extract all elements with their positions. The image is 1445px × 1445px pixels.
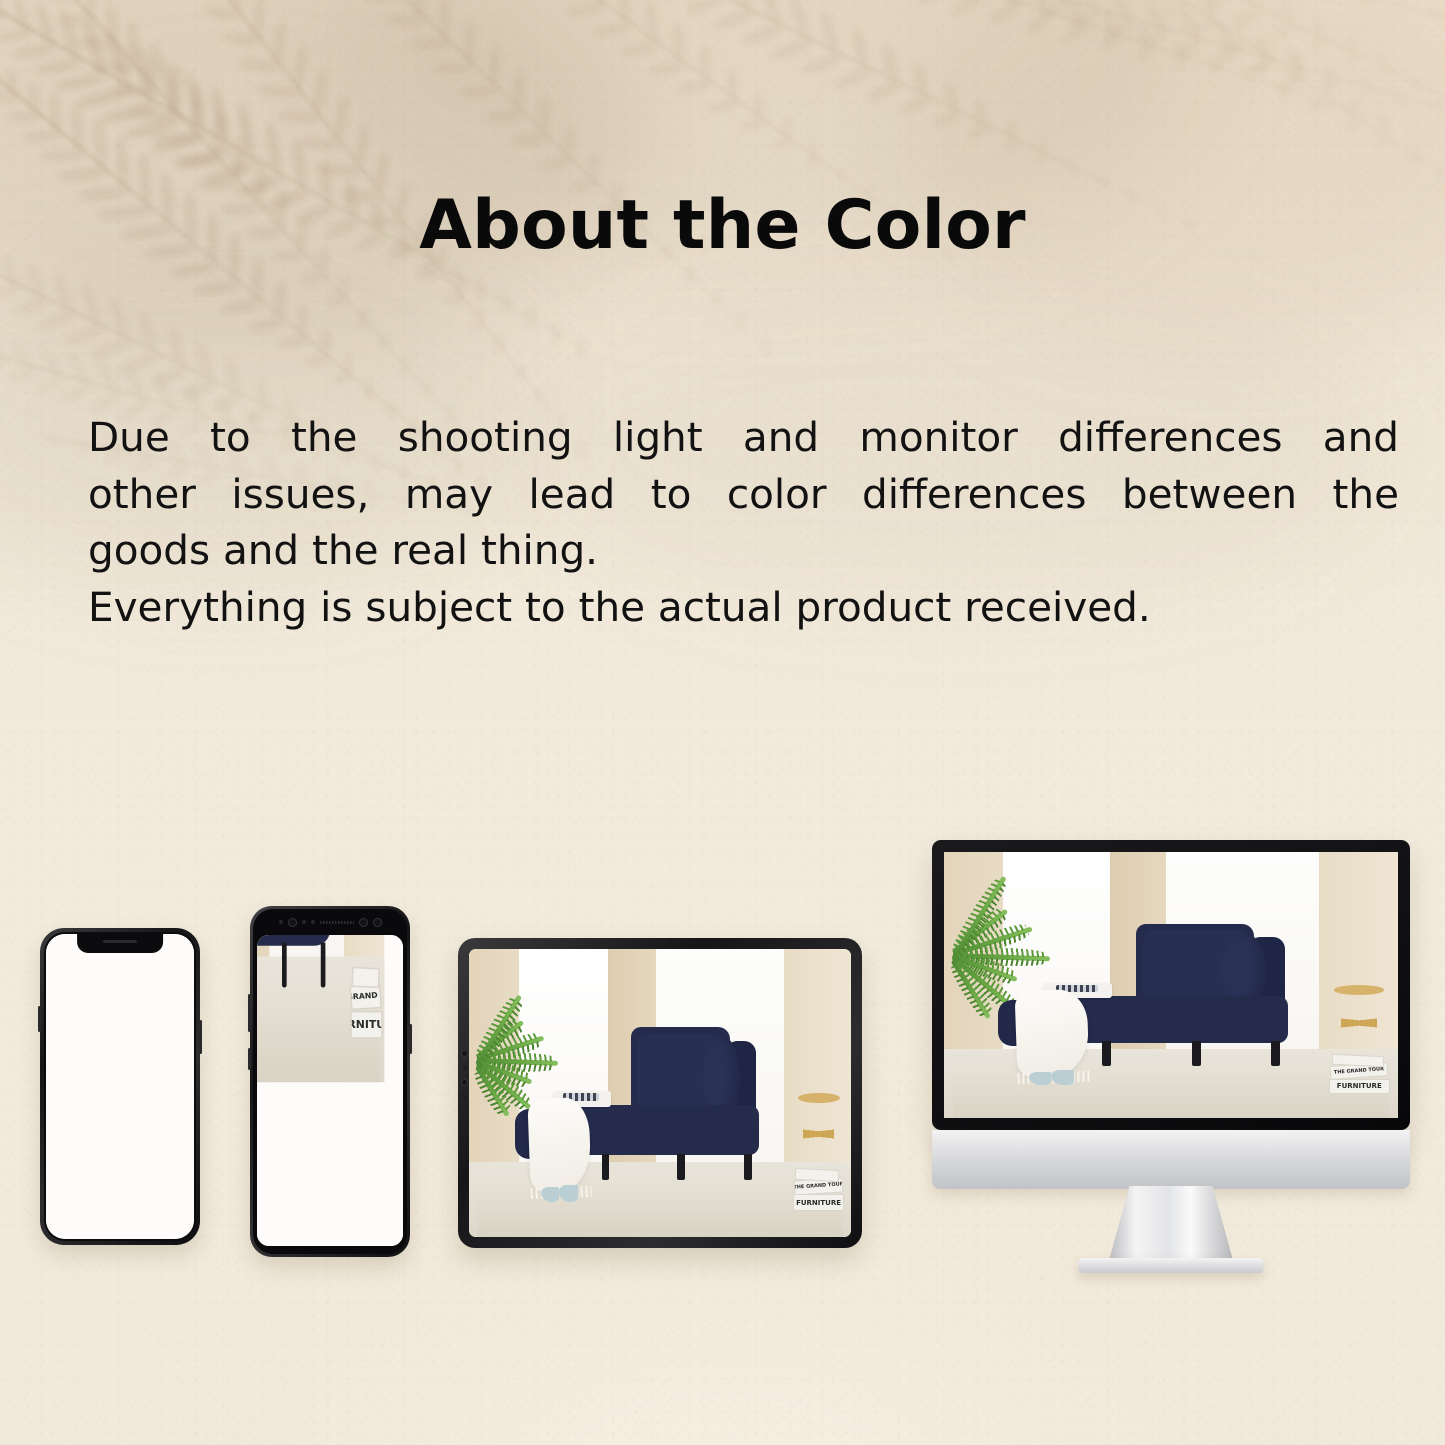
palm-leaflet-shadow	[381, 334, 390, 343]
palm-leaflet-shadow	[475, 289, 487, 300]
sofa-leg	[321, 942, 325, 987]
tablet-screen[interactable]: THE GRAND TOURFURNITURE	[469, 949, 851, 1237]
palm-leaflet-shadow	[804, 157, 820, 168]
palm-leaflet-shadow	[333, 373, 352, 385]
disclaimer-paragraph: Due to the shooting light and monitor di…	[88, 409, 1399, 635]
palm-leaflet-shadow	[1001, 138, 1021, 153]
palm-leaflet-shadow	[52, 438, 61, 447]
palm-leaflet-shadow	[1190, 21, 1220, 34]
palm-leaflet-shadow	[495, 347, 503, 354]
palm-leaflet-shadow	[1378, 68, 1391, 79]
palm-leaflet-shadow	[38, 345, 62, 377]
palm-frond-shadow	[287, 0, 783, 361]
palm-leaflet-shadow	[1173, 42, 1184, 57]
palm-leaflet-shadow	[326, 297, 346, 306]
palm-leaflet-shadow	[6, 112, 40, 121]
palm-leaflet-shadow	[1378, 57, 1387, 69]
monitor-chin	[932, 1130, 1410, 1189]
palm-leaflet-shadow	[111, 85, 157, 97]
palm-leaflet-shadow	[77, 37, 116, 49]
palm-leaflet-shadow	[362, 392, 375, 402]
product-photo-tablet: THE GRAND TOURFURNITURE	[469, 949, 851, 1237]
palm-leaflet-shadow	[293, 43, 308, 90]
palm-leaflet-shadow	[0, 94, 18, 102]
palm-leaflet-shadow	[225, 359, 241, 394]
palm-leaflet-shadow	[1275, 81, 1283, 89]
palm-leaflet-shadow	[1145, 0, 1167, 31]
palm-leaflet-shadow	[343, 354, 352, 373]
palm-leaflet-shadow	[527, 308, 534, 318]
palm-leaflet-shadow	[1098, 33, 1122, 53]
shoe-right	[1051, 1070, 1073, 1085]
palm-leaflet-shadow	[194, 280, 242, 297]
palm-leaflet-shadow	[589, 153, 600, 181]
sofa-leg	[1271, 1041, 1280, 1066]
palm-leaflet-shadow	[62, 14, 95, 26]
palm-frond-shadow	[928, 0, 1445, 156]
palm-leaflet-shadow	[273, 19, 287, 64]
palm-leaflet-shadow	[418, 270, 443, 278]
palm-leaflet-shadow	[501, 294, 508, 304]
palm-leaflet-shadow	[1104, 18, 1137, 42]
palm-leaflet-shadow	[36, 310, 78, 331]
palm-leaflet-shadow	[476, 307, 487, 321]
palm-leaflet-shadow	[450, 274, 462, 285]
palm-leaflet-shadow	[1202, 0, 1232, 10]
product-photo-monitor: THE GRAND TOURFURNITURE	[944, 852, 1398, 1118]
palm-leaflet-shadow	[1322, 76, 1340, 92]
palm-leaflet-shadow	[190, 85, 203, 134]
palm-leaflet-shadow	[565, 2, 606, 17]
palm-leaflet-shadow	[0, 338, 5, 361]
palm-leaflet-shadow	[737, 323, 745, 331]
palm-leaflet-shadow	[837, 176, 847, 185]
palm-leaflet-shadow	[153, 374, 176, 409]
palm-leaflet-shadow	[1043, 0, 1066, 2]
palm-leaflet-shadow	[33, 57, 84, 77]
palm-leaflet-shadow	[1397, 4, 1406, 13]
palm-leaflet-shadow	[897, 95, 932, 117]
palm-leaflet-shadow	[881, 43, 899, 82]
disclaimer-line-1: Due to the shooting light and monitor di…	[88, 409, 1399, 466]
palm-leaflet-shadow	[1038, 0, 1069, 20]
device-mockup-android[interactable]: THE GRAND TOURFURNITURE	[250, 906, 410, 1257]
palm-leaflet-shadow	[514, 70, 524, 110]
palm-leaflet-shadow	[536, 398, 544, 406]
palm-frond-shadow	[0, 0, 601, 359]
disclaimer-line-3: goods and the real thing.	[88, 522, 1399, 579]
iphone-power-button	[199, 1020, 202, 1054]
palm-leaflet-shadow	[233, 0, 244, 12]
palm-frond-shadow	[598, 0, 1400, 129]
palm-leaflet-shadow	[1135, 44, 1155, 61]
sofa-seat	[257, 935, 330, 945]
chaise-lounge-sofa	[257, 935, 357, 1029]
palm-leaflet-shadow	[290, 139, 307, 189]
palm-leaflet-shadow	[728, 68, 738, 99]
palm-leaflet-shadow	[1246, 60, 1276, 75]
palm-leaflet-shadow	[1394, 89, 1403, 97]
palm-leaflet-shadow	[850, 26, 870, 68]
palm-leaflet-shadow	[57, 168, 107, 180]
palm-leaflet-shadow	[1359, 0, 1369, 7]
palm-leaflet-shadow	[457, 86, 500, 97]
palm-leaflet-shadow	[540, 157, 573, 169]
palm-leaflet-shadow	[1340, 118, 1363, 132]
palm-frond-shadow	[699, 0, 1445, 43]
room-scene: THE GRAND TOURFURNITURE	[469, 949, 851, 1237]
palm-leaflet-shadow	[712, 299, 720, 307]
palm-leaflet-shadow	[353, 122, 370, 166]
page-title: About the Color	[0, 186, 1445, 265]
palm-leaflet-shadow	[151, 133, 199, 144]
palm-leaflet-shadow	[576, 347, 587, 358]
palm-leaflet-shadow	[1262, 31, 1275, 61]
palm-leaflet-shadow	[736, 315, 744, 323]
palm-leaflet-shadow	[255, 84, 302, 98]
palm-leaflet-shadow	[1306, 37, 1327, 53]
palm-leaflet-shadow	[76, 86, 134, 110]
palm-leaflet-shadow	[1373, 137, 1392, 150]
palm-leaflet-shadow	[500, 303, 512, 314]
palm-leaflet-shadow	[712, 9, 755, 31]
palm-leaflet-shadow	[1429, 6, 1437, 14]
palm-leaflet-shadow	[34, 0, 56, 45]
palm-leaflet-shadow	[539, 97, 550, 134]
palm-leaflet-shadow	[276, 336, 308, 351]
palm-leaflet-shadow	[1210, 65, 1221, 76]
palm-leaflet-shadow	[5, 67, 18, 95]
palm-leaflet-shadow	[52, 272, 74, 314]
palm-leaflet-shadow	[70, 104, 85, 150]
ambient-shadow-wash	[900, 0, 1445, 340]
palm-leaflet-shadow	[86, 0, 95, 18]
palm-leaflet-shadow	[1174, 37, 1205, 61]
palm-leaflet-shadow	[1276, 79, 1305, 94]
palm-leaflet-shadow	[537, 389, 546, 398]
palm-leaflet-shadow	[1398, 95, 1407, 104]
palm-leaflet-shadow	[1342, 103, 1350, 111]
palm-leaflet-shadow	[1376, 114, 1384, 121]
palm-leaflet-shadow	[11, 0, 31, 30]
palm-leaflet-shadow	[210, 86, 232, 146]
palm-leaflet-shadow	[386, 15, 425, 24]
palm-leaflet-shadow	[1323, 60, 1336, 78]
palm-leaflet-shadow	[0, 283, 22, 299]
palm-leaflet-shadow	[944, 80, 958, 111]
palm-leaflet-shadow	[996, 0, 1017, 4]
palm-leaflet-shadow	[644, 1, 657, 42]
iphone-bezel: THE GRAND TOURFURNITURE	[44, 932, 196, 1241]
palm-leaflet-shadow	[0, 28, 33, 43]
palm-leaflet-shadow	[11, 341, 33, 369]
palm-leaflet-shadow	[33, 373, 66, 395]
palm-leaflet-shadow	[490, 44, 500, 86]
palm-leaflet-shadow	[700, 44, 711, 80]
palm-leaflet-shadow	[1308, 99, 1335, 113]
palm-leaflet-shadow	[157, 55, 181, 117]
palm-leaflet-shadow	[1217, 41, 1248, 55]
palm-leaflet-shadow	[769, 37, 814, 61]
palm-leaflet-shadow	[401, 366, 410, 374]
palm-leaflet-shadow	[130, 109, 178, 120]
palm-leaflet-shadow	[13, 42, 58, 60]
palm-leaflet-shadow	[800, 52, 844, 76]
iphone-notch	[77, 934, 163, 953]
palm-leaflet-shadow	[552, 323, 559, 332]
palm-leaflet-shadow	[108, 295, 130, 340]
palm-leaflet-shadow	[132, 42, 157, 103]
palm-leaflet-shadow	[1351, 96, 1361, 118]
tablet-mic-icon	[463, 1095, 467, 1099]
palm-leaflet-shadow	[169, 63, 181, 111]
palm-leaflet-shadow	[837, 168, 844, 176]
monitor-screen[interactable]: THE GRAND TOURFURNITURE	[944, 852, 1398, 1118]
palm-leaflet-shadow	[248, 317, 286, 333]
palm-leaflet-shadow	[1210, 47, 1238, 70]
sofa-leg	[602, 1154, 610, 1181]
product-photo-android: THE GRAND TOURFURNITURE	[257, 935, 403, 1246]
palm-leaflet-shadow	[677, 79, 713, 95]
side-table-legs	[803, 1100, 833, 1167]
chaise-lounge-sofa	[515, 1027, 805, 1206]
palm-leaflet-shadow	[1321, 73, 1332, 99]
palm-leaflet-shadow	[1245, 76, 1254, 85]
palm-leaflet-shadow	[173, 157, 220, 167]
palm-leaflet-shadow	[338, 276, 349, 297]
device-mockup-tablet[interactable]: THE GRAND TOURFURNITURE	[458, 938, 862, 1248]
palm-leaflet-shadow	[147, 365, 189, 389]
palm-leaflet-shadow	[931, 109, 961, 129]
palm-leaflet-shadow	[431, 63, 474, 73]
palm-leaflet-shadow	[1428, 99, 1436, 106]
palm-leaflet-shadow	[761, 338, 769, 346]
palm-leaflet-shadow	[166, 324, 186, 367]
palm-leaflet-shadow	[1060, 22, 1088, 44]
palm-leaflet-shadow	[221, 299, 264, 315]
palm-leaflet-shadow	[951, 0, 988, 16]
palm-leaflet-shadow	[1023, 11, 1054, 35]
palm-leaflet-shadow	[1139, 27, 1171, 51]
palm-leaflet-shadow	[783, 117, 791, 137]
palm-leaflet-shadow	[128, 22, 138, 65]
palm-leaflet-shadow	[516, 373, 524, 381]
android-light-sensor-icon	[279, 920, 283, 924]
palm-leaflet-shadow	[1163, 2, 1190, 14]
android-proximity-sensor-icon	[302, 920, 306, 924]
android-secondary-camera-icon	[373, 918, 382, 927]
palm-leaflet-shadow	[1066, 0, 1083, 25]
iphone-speaker-icon	[103, 940, 137, 943]
palm-leaflet-shadow	[987, 1, 1022, 27]
sofa-bolster-pillow	[702, 1037, 740, 1116]
palm-leaflet-shadow	[465, 20, 474, 63]
android-power-button	[409, 1024, 412, 1054]
palm-leaflet-shadow	[1173, 55, 1188, 69]
sofa-leg	[1102, 1041, 1111, 1066]
palm-leaflet-shadow	[1313, 18, 1325, 39]
palm-leaflet-shadow	[1242, 70, 1250, 78]
palm-leaflet-shadow	[740, 23, 785, 46]
palm-leaflet-shadow	[48, 91, 62, 132]
palm-leaflet-shadow	[456, 275, 468, 295]
ambient-shadow-wash	[0, 0, 640, 350]
palm-leaflet-shadow	[275, 111, 322, 125]
palm-leaflet-shadow	[82, 19, 107, 74]
shoe-left	[1029, 1072, 1051, 1086]
tablet-depth-sensor-icon	[461, 1079, 468, 1086]
side-table-legs	[356, 935, 374, 966]
throw-blanket	[528, 1097, 592, 1192]
monitor-stand-neck	[1108, 1186, 1234, 1264]
palm-leaflet-shadow	[496, 337, 505, 346]
palm-leaflet-shadow	[107, 3, 116, 41]
palm-leaflet-shadow	[22, 131, 63, 141]
palm-leaflet-shadow	[313, 68, 329, 115]
palm-leaflet-shadow	[647, 60, 686, 77]
palm-leaflet-shadow	[1432, 105, 1440, 114]
palm-leaflet-shadow	[1287, 46, 1302, 68]
android-bezel: THE GRAND TOURFURNITURE	[253, 909, 407, 1254]
palm-leaflet-shadow	[237, 58, 282, 73]
palm-leaflet-shadow	[423, 380, 432, 389]
palm-leaflet-shadow	[483, 110, 524, 122]
device-mockup-iphone[interactable]: THE GRAND TOURFURNITURE	[40, 928, 200, 1245]
palm-leaflet-shadow	[39, 150, 85, 161]
device-mockup-monitor[interactable]: THE GRAND TOURFURNITURE	[932, 840, 1410, 1130]
palm-leaflet-shadow	[517, 363, 526, 372]
palm-leaflet-shadow	[564, 124, 575, 157]
palm-leaflet-shadow	[298, 304, 307, 335]
palm-leaflet-shadow	[1215, 20, 1234, 49]
palm-leaflet-shadow	[1137, 26, 1150, 46]
palm-leaflet-shadow	[1285, 66, 1307, 85]
palm-leaflet-shadow	[685, 0, 725, 14]
palm-leaflet-shadow	[440, 0, 450, 39]
palm-leaflet-shadow	[1102, 11, 1117, 36]
room-scene: THE GRAND TOURFURNITURE	[257, 935, 384, 1082]
palm-leaflet-shadow	[1035, 152, 1049, 164]
palm-leaflet-shadow	[184, 70, 208, 132]
about-the-color-page: About the Color Due to the shooting ligh…	[0, 0, 1445, 1445]
palm-leaflet-shadow	[1097, 174, 1105, 182]
palm-leaflet-shadow	[1069, 166, 1079, 176]
iphone-volume-button	[38, 1006, 41, 1032]
palm-leaflet-shadow	[59, 381, 94, 405]
palm-leaflet-shadow	[402, 357, 411, 366]
palm-leaflet-shadow	[380, 343, 389, 351]
android-iris-scanner-icon	[359, 918, 368, 927]
sofa-leg	[1192, 1041, 1201, 1066]
palm-leaflet-shadow	[366, 380, 374, 392]
palm-leaflet-shadow	[232, 135, 246, 181]
palm-leaflet-shadow	[672, 22, 684, 61]
palm-leaflet-shadow	[353, 320, 367, 329]
palm-leaflet-shadow	[117, 351, 161, 375]
palm-leaflet-shadow	[451, 264, 459, 275]
iphone-screen[interactable]: THE GRAND TOURFURNITURE	[46, 934, 194, 1239]
product-photo-iphone: THE GRAND TOURFURNITURE	[46, 934, 194, 1239]
palm-leaflet-shadow	[54, 71, 109, 93]
sofa-leg	[677, 1154, 685, 1181]
palm-leaflet-shadow	[1406, 156, 1420, 167]
palm-leaflet-shadow	[1176, 0, 1190, 4]
palm-leaflet-shadow	[1208, 57, 1217, 67]
palm-leaflet-shadow	[196, 341, 214, 380]
palm-leaflet-shadow	[1410, 144, 1418, 157]
palm-leaflet-shadow	[1247, 56, 1272, 77]
palm-leaflet-shadow	[123, 115, 185, 141]
palm-leaflet-shadow	[470, 321, 483, 329]
palm-leaflet-shadow	[1110, 0, 1133, 21]
palm-leaflet-shadow	[591, 21, 633, 37]
palm-leaflet-shadow	[58, 9, 82, 59]
disclaimer-line-4: Everything is subject to the actual prod…	[88, 579, 1399, 636]
palm-leaflet-shadow	[1381, 120, 1390, 138]
palm-leaflet-shadow	[511, 134, 548, 146]
palm-leaflet-shadow	[359, 305, 369, 319]
palm-leaflet-shadow	[688, 275, 696, 283]
palm-leaflet-shadow	[864, 80, 903, 103]
palm-leaflet-shadow	[740, 118, 767, 133]
monitor-stand-base	[1078, 1258, 1264, 1273]
palm-leaflet-shadow	[831, 66, 873, 90]
palm-leaflet-shadow	[1006, 120, 1017, 139]
palm-leaflet-shadow	[912, 61, 928, 96]
palm-leaflet-shadow	[305, 354, 331, 367]
throw-blanket	[1014, 989, 1089, 1077]
palm-leaflet-shadow	[1312, 98, 1321, 107]
android-earpiece-icon	[320, 921, 354, 924]
palm-leaflet-shadow	[1204, 0, 1218, 23]
sofa-bolster-pillow	[1221, 934, 1266, 1007]
tablet-sensor-cluster	[461, 1050, 468, 1099]
palm-leaflet-shadow	[975, 100, 987, 125]
sofa-leg	[281, 942, 285, 987]
palm-leaflet-shadow	[1067, 159, 1075, 167]
palm-leaflet-shadow	[688, 267, 696, 275]
palm-leaflet-shadow	[149, 129, 210, 156]
palm-leaflet-shadow	[48, 433, 58, 443]
palm-leaflet-shadow	[99, 100, 160, 125]
palm-leaflet-shadow	[551, 332, 563, 343]
palm-leaflet-shadow	[526, 318, 538, 329]
palm-leaflet-shadow	[1076, 0, 1099, 12]
palm-leaflet-shadow	[1007, 0, 1035, 8]
tablet-front-camera-icon	[461, 1050, 468, 1057]
palm-leaflet-shadow	[1439, 168, 1445, 176]
palm-leaflet-shadow	[966, 123, 991, 141]
palm-leaflet-shadow	[772, 137, 793, 150]
palm-leaflet-shadow	[1342, 53, 1359, 67]
palm-leaflet-shadow	[476, 279, 484, 289]
palm-leaflet-shadow	[47, 0, 74, 3]
palm-leaflet-shadow	[415, 0, 425, 16]
palm-leaflet-shadow	[789, 0, 811, 40]
palm-leaflet-shadow	[712, 291, 720, 299]
palm-leaflet-shadow	[1379, 120, 1388, 129]
android-screen[interactable]: THE GRAND TOURFURNITURE	[257, 935, 403, 1246]
palm-leaflet-shadow	[1071, 8, 1104, 31]
palm-leaflet-shadow	[819, 10, 840, 54]
palm-leaflet-shadow	[123, 365, 147, 402]
palm-leaflet-shadow	[178, 378, 217, 401]
palm-leaflet-shadow	[708, 99, 740, 115]
palm-leaflet-shadow	[1236, 7, 1264, 25]
sofa-leg	[744, 1154, 752, 1181]
palm-leaflet-shadow	[299, 273, 326, 283]
android-sensor-bar	[253, 909, 407, 935]
